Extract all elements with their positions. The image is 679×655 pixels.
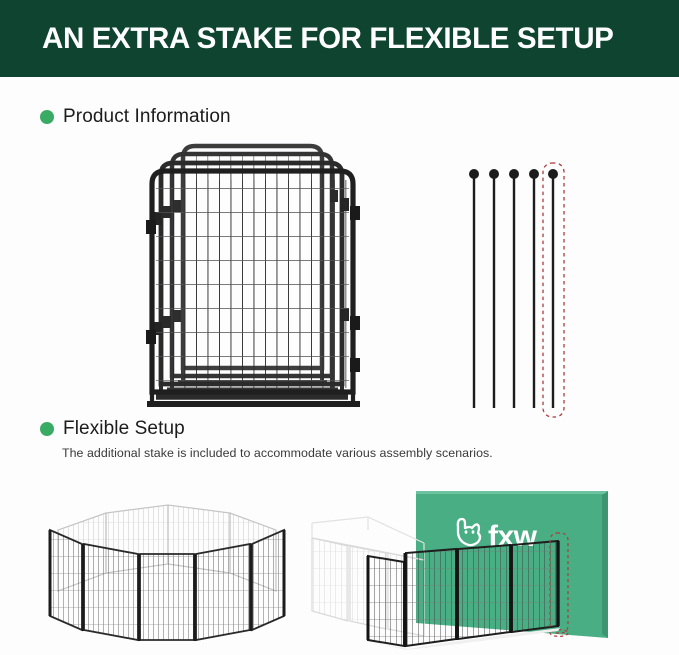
section-heading-product-information: Product Information <box>40 106 231 128</box>
stake-3 <box>509 169 519 408</box>
stake-2 <box>489 169 499 408</box>
section-heading-label: Product Information <box>63 106 231 128</box>
fence-panel-front <box>146 171 360 404</box>
stake-4 <box>529 169 539 408</box>
fence-against-wall-illustration: fxw <box>308 483 679 655</box>
section-subtext: The additional stake is included to acco… <box>62 446 493 460</box>
section-heading-flexible-setup: Flexible Setup <box>40 418 185 440</box>
ground-stakes-illustration <box>460 160 575 420</box>
infographic-page: AN EXTRA STAKE FOR FLEXIBLE SETUP Produc… <box>0 0 679 655</box>
stacked-fence-panels-illustration <box>150 140 385 405</box>
green-dot-icon <box>40 110 54 124</box>
header-banner: AN EXTRA STAKE FOR FLEXIBLE SETUP <box>0 0 679 77</box>
stake-5-highlighted <box>548 169 558 408</box>
page-title: AN EXTRA STAKE FOR FLEXIBLE SETUP <box>42 22 613 56</box>
octagonal-playpen-illustration <box>28 488 318 653</box>
section-heading-label: Flexible Setup <box>63 418 185 440</box>
stake-1 <box>469 169 479 408</box>
green-dot-icon <box>40 422 54 436</box>
